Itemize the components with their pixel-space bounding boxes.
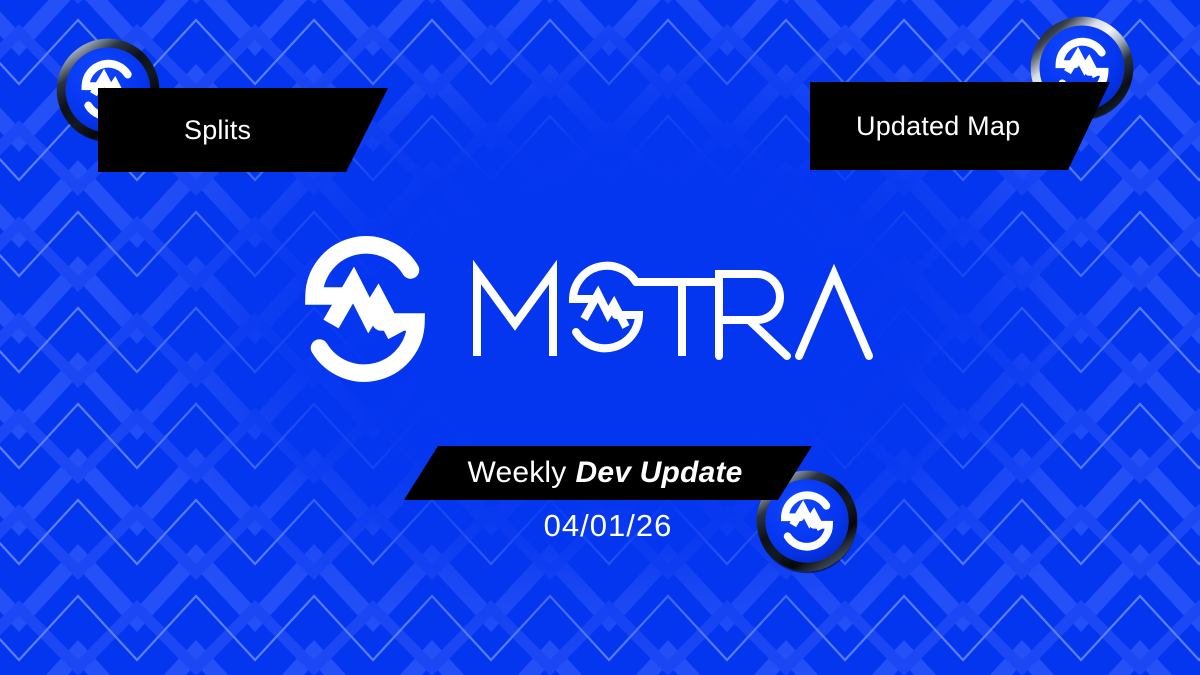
motra-logo-lockup: MOTRA [295,232,915,392]
dev-update-emphasis: Dev Update [575,456,742,489]
dev-update-graphic: Splits Updated Map [0,0,1200,675]
banner-updated-map[interactable]: Updated Map [810,82,1110,170]
banner-updated-map-label: Updated Map [856,111,1020,142]
banner-splits-label: Splits [184,115,251,146]
dev-update-date: 04/01/26 [404,508,812,544]
banner-splits[interactable]: Splits [98,88,388,172]
dev-update-weekly: Weekly [467,456,566,489]
banner-weekly-dev-update[interactable]: WeeklyDev Update [404,446,812,500]
motra-pulse-mark-large [314,245,416,373]
dev-update-title: WeeklyDev Update [467,458,742,488]
